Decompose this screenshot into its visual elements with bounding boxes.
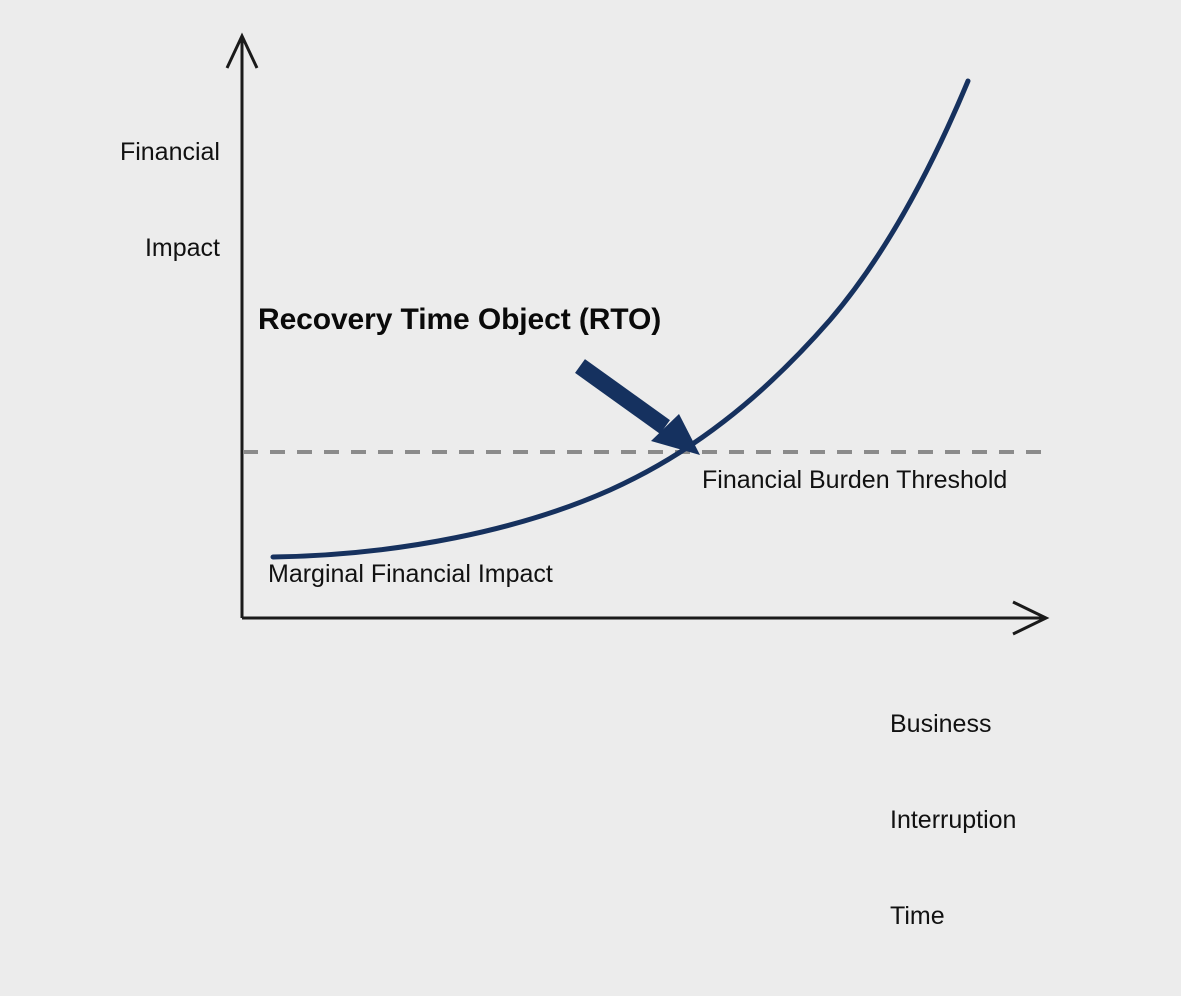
y-axis-label-line-1: Financial — [30, 136, 220, 168]
rto-callout-title: Recovery Time Object (RTO) — [258, 301, 661, 339]
threshold-label: Financial Burden Threshold — [702, 464, 1007, 496]
y-axis-label-line-2: Impact — [30, 232, 220, 264]
y-axis-label: Financial Impact — [30, 72, 220, 328]
x-axis-label-line-1: Business — [890, 708, 1140, 740]
rto-callout-arrow-icon — [580, 366, 700, 455]
rto-diagram: Financial Impact Business Interruption T… — [0, 0, 1181, 795]
x-axis-label-line-2: Interruption — [890, 804, 1140, 836]
x-axis-label-line-3: Time — [890, 900, 1140, 932]
marginal-impact-label: Marginal Financial Impact — [268, 558, 553, 590]
x-axis-label: Business Interruption Time — [890, 644, 1140, 996]
